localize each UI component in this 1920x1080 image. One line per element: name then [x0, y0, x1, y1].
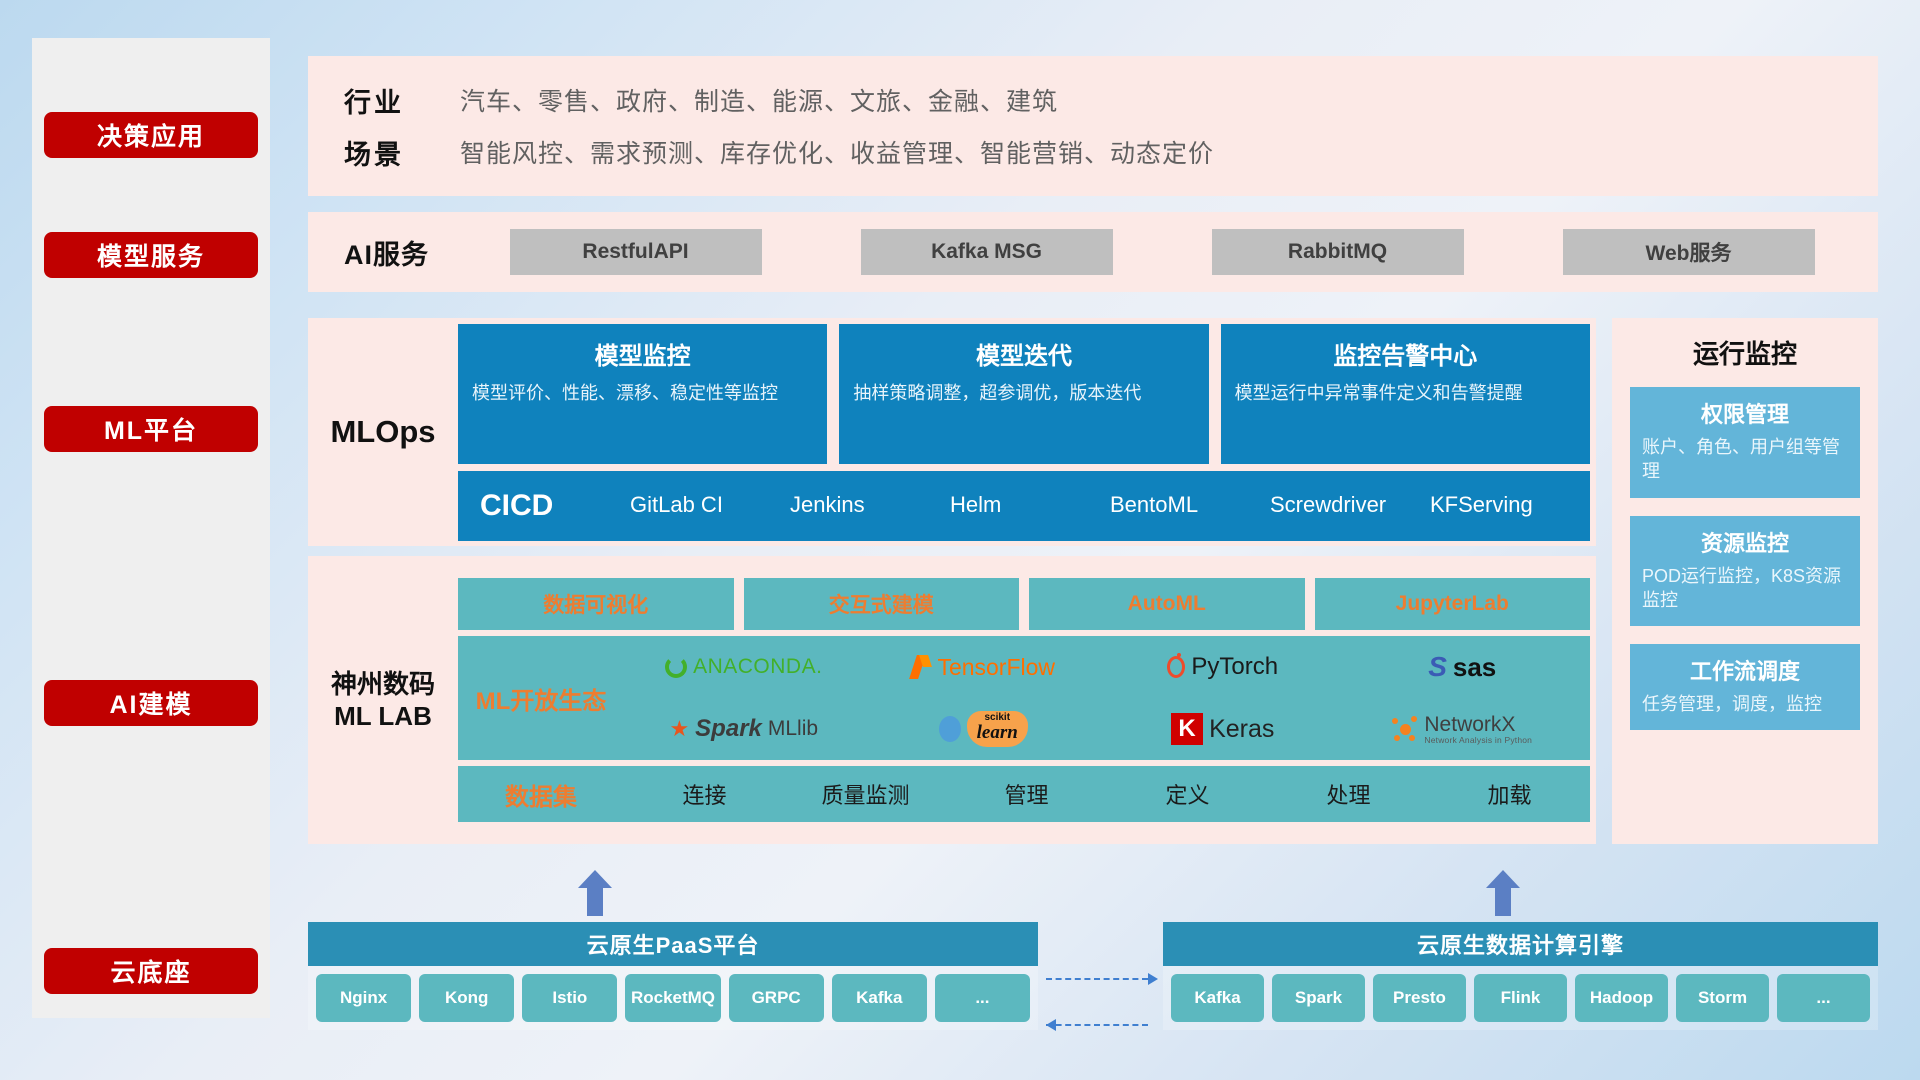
mlops-card[interactable]: 模型迭代 抽样策略调整，超参调优，版本迭代 [839, 324, 1208, 464]
spark-star-icon: ★ [669, 716, 689, 742]
paas-platform-block: 云原生PaaS平台 Nginx Kong Istio RocketMQ GRPC… [308, 922, 1038, 1030]
mlops-panel: MLOps 模型监控 模型评价、性能、漂移、稳定性等监控 模型迭代 抽样策略调整… [308, 318, 1596, 546]
networkx-logo: NetworkX Network Analysis in Python [1392, 714, 1532, 745]
layer-chip-model-service[interactable]: 模型服务 [44, 232, 258, 278]
industry-label: 行业 [344, 81, 460, 120]
cicd-item[interactable]: Helm [950, 493, 1110, 517]
pytorch-flame-icon [1167, 656, 1185, 678]
ml-lab-tool[interactable]: JupyterLab [1315, 578, 1591, 630]
paas-tag[interactable]: RocketMQ [625, 974, 720, 1022]
layer-chip-decision-apps[interactable]: 决策应用 [44, 112, 258, 158]
monitoring-card-resources[interactable]: 资源监控 POD运行监控，K8S资源监控 [1630, 516, 1860, 627]
mlops-card-title: 模型监控 [472, 336, 813, 371]
dashed-arrow-right-icon [1046, 978, 1158, 980]
learn-text: learn [977, 722, 1018, 743]
data-compute-tag[interactable]: Storm [1676, 974, 1769, 1022]
networkx-logo-subtitle: Network Analysis in Python [1424, 735, 1532, 745]
layer-chip-label: 模型服务 [97, 237, 205, 273]
layer-chip-ai-modeling[interactable]: AI建模 [44, 680, 258, 726]
networkx-logo-text: NetworkX [1424, 714, 1532, 735]
cicd-bar: CICD GitLab CI Jenkins Helm BentoML Scre… [458, 471, 1590, 541]
paas-tag-list: Nginx Kong Istio RocketMQ GRPC Kafka ... [308, 966, 1038, 1030]
mlops-card-desc: 抽样策略调整，超参调优，版本迭代 [853, 381, 1194, 406]
ml-ecosystem-label: ML开放生态 [458, 681, 624, 716]
paas-tag[interactable]: Kafka [832, 974, 927, 1022]
paas-platform-title: 云原生PaaS平台 [308, 922, 1038, 966]
anaconda-logo-text: ANACONDA. [693, 655, 822, 679]
monitoring-card-workflow[interactable]: 工作流调度 任务管理，调度，监控 [1630, 644, 1860, 730]
ml-lab-label: 神州数码 ML LAB [308, 668, 458, 733]
runtime-monitoring-title: 运行监控 [1630, 334, 1860, 371]
pytorch-logo-text: PyTorch [1191, 653, 1278, 681]
cicd-item[interactable]: Jenkins [790, 493, 950, 517]
architecture-diagram: 决策应用 模型服务 ML平台 AI建模 云底座 行业 汽车、零售、政府、制造、能… [0, 0, 1920, 1080]
paas-tag[interactable]: ... [935, 974, 1030, 1022]
runtime-monitoring-panel: 运行监控 权限管理 账户、角色、用户组等管理 资源监控 POD运行监控，K8S资… [1612, 318, 1878, 844]
dataset-item[interactable]: 管理 [946, 778, 1107, 810]
scikit-blob-icon [939, 716, 961, 742]
layer-chip-label: 决策应用 [97, 117, 205, 153]
mllib-logo-text: MLlib [768, 717, 818, 741]
mlops-card[interactable]: 监控告警中心 模型运行中异常事件定义和告警提醒 [1221, 324, 1590, 464]
ai-service-label: AI服务 [344, 233, 460, 272]
monitoring-card-permissions[interactable]: 权限管理 账户、角色、用户组等管理 [1630, 387, 1860, 498]
scikit-pill-icon: scikit learn [967, 711, 1028, 747]
monitoring-card-desc: POD运行监控，K8S资源监控 [1642, 564, 1848, 613]
industry-row: 行业 汽车、零售、政府、制造、能源、文旅、金融、建筑 [344, 74, 1878, 126]
layer-chip-label: ML平台 [104, 411, 198, 447]
dataset-item[interactable]: 加载 [1429, 778, 1590, 810]
networkx-graph-icon [1392, 716, 1418, 742]
monitoring-card-desc: 账户、角色、用户组等管理 [1642, 435, 1848, 484]
layer-chip-label: 云底座 [110, 953, 191, 989]
dataset-item[interactable]: 定义 [1107, 778, 1268, 810]
ml-lab-tool[interactable]: 数据可视化 [458, 578, 734, 630]
cloud-base-section: 云原生PaaS平台 Nginx Kong Istio RocketMQ GRPC… [308, 886, 1878, 1036]
ml-lab-label-line1: 神州数码 [308, 668, 458, 701]
ml-lab-tool-list: 数据可视化 交互式建模 AutoML JupyterLab [458, 578, 1590, 630]
monitoring-card-title: 权限管理 [1642, 397, 1848, 429]
paas-tag[interactable]: GRPC [729, 974, 824, 1022]
dashed-arrow-left-icon [1046, 1024, 1158, 1026]
ml-ecosystem-logo-grid: ANACONDA. TensorFlow PyTorch S sas [624, 636, 1590, 760]
industry-value: 汽车、零售、政府、制造、能源、文旅、金融、建筑 [460, 82, 1058, 118]
data-compute-tag[interactable]: ... [1777, 974, 1870, 1022]
tensorflow-logo: TensorFlow [911, 654, 1055, 681]
ml-lab-tool[interactable]: 交互式建模 [744, 578, 1020, 630]
data-compute-tag[interactable]: Presto [1373, 974, 1466, 1022]
mlops-card-title: 监控告警中心 [1235, 336, 1576, 371]
scenario-row: 场景 智能风控、需求预测、库存优化、收益管理、智能营销、动态定价 [344, 126, 1878, 178]
data-compute-tag[interactable]: Hadoop [1575, 974, 1668, 1022]
dataset-label: 数据集 [458, 777, 624, 812]
layer-chip-cloud-base[interactable]: 云底座 [44, 948, 258, 994]
keras-k-icon: K [1171, 713, 1203, 745]
ai-service-chip[interactable]: RestfulAPI [510, 229, 762, 275]
sas-swirl-icon: S [1428, 651, 1447, 683]
dataset-item[interactable]: 质量监测 [785, 778, 946, 810]
monitoring-card-title: 工作流调度 [1642, 654, 1848, 686]
ml-ecosystem-bar: ML开放生态 ANACONDA. TensorFlow PyTorch [458, 636, 1590, 760]
ml-lab-tool[interactable]: AutoML [1029, 578, 1305, 630]
dataset-item[interactable]: 处理 [1268, 778, 1429, 810]
ml-lab-label-line2: ML LAB [308, 700, 458, 733]
ai-service-chip[interactable]: RabbitMQ [1212, 229, 1464, 275]
tensorflow-logo-text: TensorFlow [937, 654, 1055, 681]
paas-tag[interactable]: Istio [522, 974, 617, 1022]
cicd-item[interactable]: Screwdriver [1270, 493, 1430, 517]
mlops-card-title: 模型迭代 [853, 336, 1194, 371]
mlops-card-desc: 模型评价、性能、漂移、稳定性等监控 [472, 381, 813, 406]
dataset-bar: 数据集 连接 质量监测 管理 定义 处理 加载 [458, 766, 1590, 822]
ai-service-panel: AI服务 RestfulAPI Kafka MSG RabbitMQ Web服务 [308, 212, 1878, 292]
ai-service-chip[interactable]: Web服务 [1563, 229, 1815, 275]
cicd-item-list: GitLab CI Jenkins Helm BentoML Screwdriv… [630, 493, 1590, 517]
mlops-content: 模型监控 模型评价、性能、漂移、稳定性等监控 模型迭代 抽样策略调整，超参调优，… [458, 318, 1596, 546]
sas-logo-text: sas [1453, 652, 1496, 683]
layer-chip-label: AI建模 [109, 685, 192, 721]
dataset-item-list: 连接 质量监测 管理 定义 处理 加载 [624, 778, 1590, 810]
decision-apps-panel: 行业 汽车、零售、政府、制造、能源、文旅、金融、建筑 场景 智能风控、需求预测、… [308, 56, 1878, 196]
data-compute-tag-list: Kafka Spark Presto Flink Hadoop Storm ..… [1163, 966, 1878, 1030]
data-compute-tag[interactable]: Spark [1272, 974, 1365, 1022]
anaconda-logo: ANACONDA. [665, 655, 822, 679]
anaconda-ring-icon [665, 656, 687, 678]
ml-lab-content: 数据可视化 交互式建模 AutoML JupyterLab ML开放生态 ANA… [458, 556, 1596, 844]
mlops-card-list: 模型监控 模型评价、性能、漂移、稳定性等监控 模型迭代 抽样策略调整，超参调优，… [458, 324, 1590, 464]
layer-rail [32, 38, 270, 1018]
ml-lab-panel: 神州数码 ML LAB 数据可视化 交互式建模 AutoML JupyterLa… [308, 556, 1596, 844]
pytorch-logo: PyTorch [1167, 653, 1278, 681]
layer-chip-ml-platform[interactable]: ML平台 [44, 406, 258, 452]
data-compute-tag[interactable]: Flink [1474, 974, 1567, 1022]
cicd-item[interactable]: GitLab CI [630, 493, 790, 517]
scenario-value: 智能风控、需求预测、库存优化、收益管理、智能营销、动态定价 [460, 134, 1214, 170]
ai-service-chip[interactable]: Kafka MSG [861, 229, 1113, 275]
data-compute-tag[interactable]: Kafka [1171, 974, 1264, 1022]
dataset-item[interactable]: 连接 [624, 778, 785, 810]
keras-logo-text: Keras [1209, 715, 1274, 744]
spark-mllib-logo: ★ Spark MLlib [669, 715, 818, 743]
spark-logo-text: Spark [695, 715, 762, 743]
mlops-card[interactable]: 模型监控 模型评价、性能、漂移、稳定性等监控 [458, 324, 827, 464]
ai-service-chip-list: RestfulAPI Kafka MSG RabbitMQ Web服务 [460, 229, 1878, 275]
keras-logo: K Keras [1171, 713, 1274, 745]
cicd-label: CICD [480, 489, 630, 523]
paas-tag[interactable]: Nginx [316, 974, 411, 1022]
monitoring-card-desc: 任务管理，调度，监控 [1642, 692, 1848, 716]
mlops-card-desc: 模型运行中异常事件定义和告警提醒 [1235, 381, 1576, 406]
data-compute-engine-block: 云原生数据计算引擎 Kafka Spark Presto Flink Hadoo… [1163, 922, 1878, 1030]
cicd-item[interactable]: BentoML [1110, 493, 1270, 517]
mlops-label: MLOps [308, 414, 458, 450]
data-compute-engine-title: 云原生数据计算引擎 [1163, 922, 1878, 966]
paas-tag[interactable]: Kong [419, 974, 514, 1022]
scikit-learn-logo: scikit learn [939, 711, 1028, 747]
scenario-label: 场景 [344, 133, 460, 172]
networkx-logo-text-block: NetworkX Network Analysis in Python [1424, 714, 1532, 745]
sas-logo: S sas [1428, 651, 1496, 683]
monitoring-card-title: 资源监控 [1642, 526, 1848, 558]
cicd-item[interactable]: KFServing [1430, 493, 1590, 517]
tensorflow-mark-icon [911, 655, 931, 679]
